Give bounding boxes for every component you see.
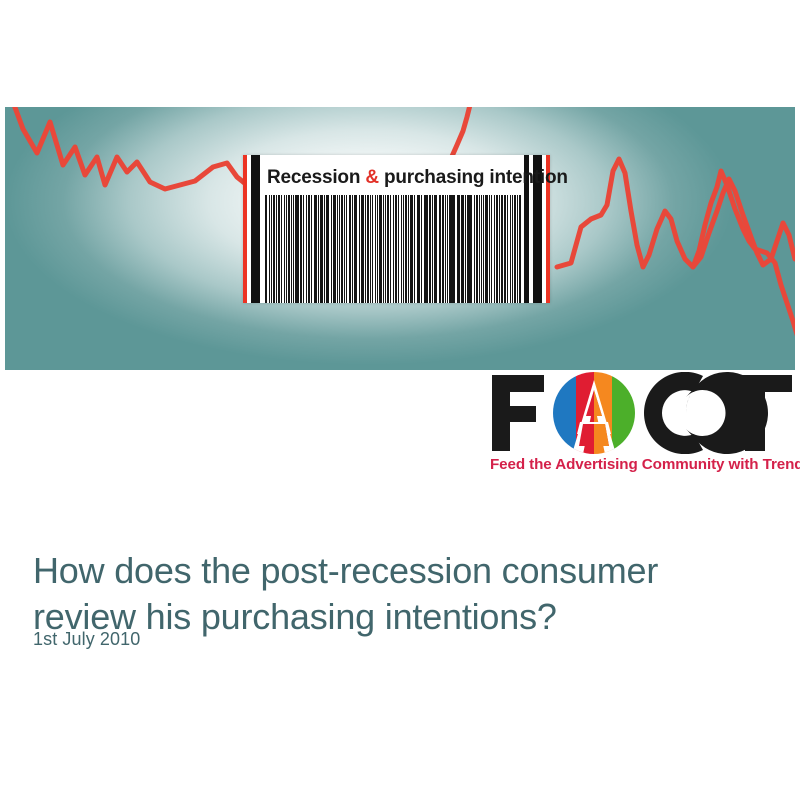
fact-logo-tagline: Feed the Advertising Community with Tren… — [490, 456, 796, 473]
barcode-edge-line-left — [243, 155, 247, 303]
barcode-guard-bar-left — [251, 155, 260, 303]
barcode-title: Recession & purchasing intention — [267, 165, 524, 191]
fact-logo: Feed the Advertising Community with Tren… — [488, 372, 796, 480]
page-title-line-1: How does the post-recession consumer — [33, 550, 658, 591]
page-title: How does the post-recession consumer rev… — [33, 548, 763, 640]
fact-logo-letters — [488, 372, 796, 454]
logo-letter-f — [492, 375, 544, 451]
barcode-graphic: Recession & purchasing intention — [243, 155, 550, 303]
presentation-date: 1st July 2010 — [33, 629, 140, 650]
page-title-line-2: review his purchasing intentions? — [33, 594, 763, 640]
barcode-title-ampersand: & — [365, 167, 379, 188]
logo-letter-a-circle — [553, 372, 636, 454]
barcode-gap — [521, 195, 522, 303]
barcode-bars — [265, 195, 522, 303]
trend-line-right-tail — [693, 179, 795, 267]
barcode-title-prefix: Recession — [267, 167, 365, 188]
trend-line-right — [557, 159, 795, 370]
barcode-title-suffix: purchasing intention — [379, 167, 568, 188]
